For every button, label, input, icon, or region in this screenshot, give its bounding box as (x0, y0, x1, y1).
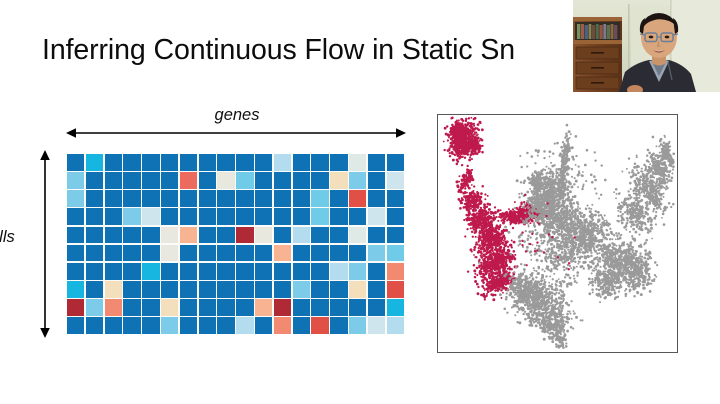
heatmap-cell (86, 208, 103, 225)
heatmap-cell (86, 299, 103, 316)
x-axis-label: genes (0, 106, 474, 125)
heatmap-cell (293, 190, 310, 207)
heatmap-cell (67, 172, 84, 189)
heatmap-cell (199, 245, 216, 262)
heatmap-cell (255, 299, 272, 316)
heatmap-cell (123, 190, 140, 207)
heatmap-cell (349, 154, 366, 171)
heatmap-cell (330, 263, 347, 280)
heatmap-cell (180, 299, 197, 316)
heatmap-cell (255, 208, 272, 225)
heatmap-cell (293, 245, 310, 262)
heatmap-cell (142, 299, 159, 316)
heatmap-cell (161, 317, 178, 334)
heatmap-cell (199, 317, 216, 334)
heatmap-cell (236, 299, 253, 316)
heatmap-cell (123, 281, 140, 298)
heatmap-cell (142, 227, 159, 244)
heatmap-cell (67, 281, 84, 298)
heatmap-cell (330, 245, 347, 262)
heatmap-cell (123, 245, 140, 262)
heatmap-cell (330, 299, 347, 316)
heatmap-cell (293, 317, 310, 334)
heatmap-cell (123, 317, 140, 334)
heatmap-cell (180, 281, 197, 298)
heatmap-cell (311, 154, 328, 171)
heatmap-cell (217, 227, 234, 244)
heatmap-cell (217, 263, 234, 280)
heatmap-cell (199, 208, 216, 225)
heatmap-cell (274, 245, 291, 262)
heatmap-cell (368, 281, 385, 298)
heatmap-cell (67, 227, 84, 244)
heatmap-cell (161, 245, 178, 262)
heatmap-cell (161, 263, 178, 280)
heatmap-cell (199, 227, 216, 244)
heatmap-cell (330, 227, 347, 244)
heatmap-cell (142, 281, 159, 298)
heatmap-cell (330, 317, 347, 334)
presenter-webcam (573, 0, 720, 92)
heatmap-cell (161, 154, 178, 171)
heatmap-cell (387, 281, 404, 298)
heatmap-cell (349, 208, 366, 225)
heatmap-cell (349, 299, 366, 316)
heatmap-cell (368, 299, 385, 316)
heatmap-cell (67, 263, 84, 280)
heatmap-cell (368, 172, 385, 189)
heatmap-cell (387, 317, 404, 334)
heatmap-cell (349, 190, 366, 207)
heatmap-cell (387, 299, 404, 316)
heatmap-cell (387, 172, 404, 189)
heatmap-cell (368, 227, 385, 244)
heatmap-cell (161, 227, 178, 244)
heatmap-cell (123, 263, 140, 280)
heatmap-cell (293, 154, 310, 171)
heatmap-cell (236, 227, 253, 244)
heatmap-cell (349, 227, 366, 244)
heatmap-cell (387, 227, 404, 244)
heatmap-cell (199, 190, 216, 207)
heatmap-cell (255, 245, 272, 262)
heatmap-cell (274, 281, 291, 298)
heatmap-cell (217, 208, 234, 225)
heatmap-cell (255, 190, 272, 207)
heatmap-cell (255, 263, 272, 280)
heatmap-cell (293, 299, 310, 316)
heatmap-cell (217, 317, 234, 334)
heatmap-cell (293, 281, 310, 298)
heatmap-cell (330, 281, 347, 298)
heatmap-cell (330, 208, 347, 225)
heatmap-cell (293, 208, 310, 225)
heatmap-cell (293, 263, 310, 280)
heatmap-cell (86, 190, 103, 207)
heatmap-cell (217, 154, 234, 171)
heatmap-cell (180, 227, 197, 244)
heatmap-cell (161, 208, 178, 225)
heatmap-cell (180, 172, 197, 189)
heatmap-cell (236, 281, 253, 298)
heatmap-cell (274, 317, 291, 334)
umap-scatter-plot (438, 115, 677, 352)
heatmap-cell (368, 317, 385, 334)
heatmap-cell (199, 154, 216, 171)
heatmap-cell (105, 299, 122, 316)
heatmap-cell (311, 263, 328, 280)
heatmap-cell (142, 154, 159, 171)
heatmap-cell (387, 263, 404, 280)
heatmap-cell (368, 245, 385, 262)
heatmap-cell (123, 172, 140, 189)
heatmap-cell (255, 172, 272, 189)
heatmap-cell (255, 154, 272, 171)
heatmap-cell (255, 227, 272, 244)
heatmap-cell (293, 172, 310, 189)
heatmap-cell (67, 245, 84, 262)
heatmap-cell (199, 281, 216, 298)
heatmap-cell (105, 190, 122, 207)
heatmap-cell (142, 190, 159, 207)
heatmap-cell (105, 208, 122, 225)
heatmap-cell (274, 172, 291, 189)
heatmap-cell (311, 299, 328, 316)
heatmap-cell (123, 154, 140, 171)
heatmap-cell (236, 154, 253, 171)
heatmap-figure: genes ells (0, 0, 430, 404)
heatmap-cell (311, 317, 328, 334)
heatmap-cell (161, 281, 178, 298)
heatmap-cell (161, 172, 178, 189)
heatmap-cell (199, 299, 216, 316)
heatmap-cell (236, 317, 253, 334)
heatmap-cell (105, 317, 122, 334)
heatmap-cell (67, 208, 84, 225)
heatmap-cell (274, 299, 291, 316)
heatmap-cell (311, 281, 328, 298)
heatmap-cell (180, 208, 197, 225)
heatmap-cell (349, 245, 366, 262)
heatmap-cell (217, 281, 234, 298)
heatmap-cell (274, 154, 291, 171)
heatmap-cell (236, 263, 253, 280)
heatmap-cell (161, 299, 178, 316)
heatmap-cell (199, 172, 216, 189)
heatmap-cell (123, 208, 140, 225)
heatmap-cell (142, 208, 159, 225)
heatmap-cell (349, 172, 366, 189)
heatmap-cell (180, 263, 197, 280)
heatmap-cell (293, 227, 310, 244)
heatmap-cell (86, 245, 103, 262)
heatmap-cell (180, 245, 197, 262)
heatmap-cell (67, 154, 84, 171)
heatmap-cell (67, 190, 84, 207)
heatmap-cell (180, 317, 197, 334)
y-axis-label: ells (0, 228, 15, 247)
heatmap-cell (142, 172, 159, 189)
heatmap-cell (199, 263, 216, 280)
cells-double-arrow (38, 150, 52, 338)
heatmap-cell (368, 154, 385, 171)
heatmap-cell (86, 281, 103, 298)
heatmap-cell (86, 227, 103, 244)
heatmap-cell (86, 172, 103, 189)
heatmap-cell (368, 190, 385, 207)
heatmap-cell (330, 154, 347, 171)
heatmap-cell (236, 245, 253, 262)
heatmap-cell (105, 227, 122, 244)
heatmap-cell (274, 227, 291, 244)
heatmap-cell (330, 172, 347, 189)
heatmap-cell (142, 317, 159, 334)
heatmap-cell (236, 208, 253, 225)
heatmap-cell (349, 317, 366, 334)
heatmap-cell (311, 245, 328, 262)
heatmap-cell (274, 263, 291, 280)
heatmap-cell (67, 317, 84, 334)
heatmap-cell (105, 281, 122, 298)
heatmap-cell (236, 172, 253, 189)
presentation-slide: Inferring Continuous Flow in Static Sn g… (0, 0, 720, 404)
heatmap-cell (180, 190, 197, 207)
heatmap-cell (274, 190, 291, 207)
heatmap-cell (86, 317, 103, 334)
heatmap-grid (67, 154, 404, 334)
heatmap-cell (311, 227, 328, 244)
heatmap-cell (368, 263, 385, 280)
heatmap-cell (123, 299, 140, 316)
heatmap-cell (142, 263, 159, 280)
heatmap-cell (255, 281, 272, 298)
heatmap-cell (330, 190, 347, 207)
heatmap-cell (67, 299, 84, 316)
webcam-video-feed (573, 0, 720, 92)
heatmap-cell (161, 190, 178, 207)
heatmap-cell (311, 208, 328, 225)
heatmap-cell (274, 208, 291, 225)
heatmap-cell (368, 208, 385, 225)
heatmap-cell (105, 245, 122, 262)
heatmap-cell (217, 245, 234, 262)
heatmap-cell (180, 154, 197, 171)
heatmap-cell (236, 190, 253, 207)
heatmap-cell (123, 227, 140, 244)
heatmap-cell (349, 263, 366, 280)
scatter-plot-panel (437, 114, 678, 353)
heatmap-cell (387, 190, 404, 207)
heatmap-cell (349, 281, 366, 298)
heatmap-cell (311, 190, 328, 207)
heatmap-cell (142, 245, 159, 262)
heatmap-cell (86, 263, 103, 280)
heatmap-cell (217, 172, 234, 189)
heatmap-cell (105, 263, 122, 280)
heatmap-cell (311, 172, 328, 189)
heatmap-cell (105, 154, 122, 171)
heatmap-cell (86, 154, 103, 171)
heatmap-cell (255, 317, 272, 334)
heatmap-cell (387, 208, 404, 225)
heatmap-cell (387, 154, 404, 171)
genes-double-arrow (66, 126, 406, 140)
heatmap-cell (105, 172, 122, 189)
heatmap-cell (387, 245, 404, 262)
heatmap-cell (217, 299, 234, 316)
heatmap-cell (217, 190, 234, 207)
